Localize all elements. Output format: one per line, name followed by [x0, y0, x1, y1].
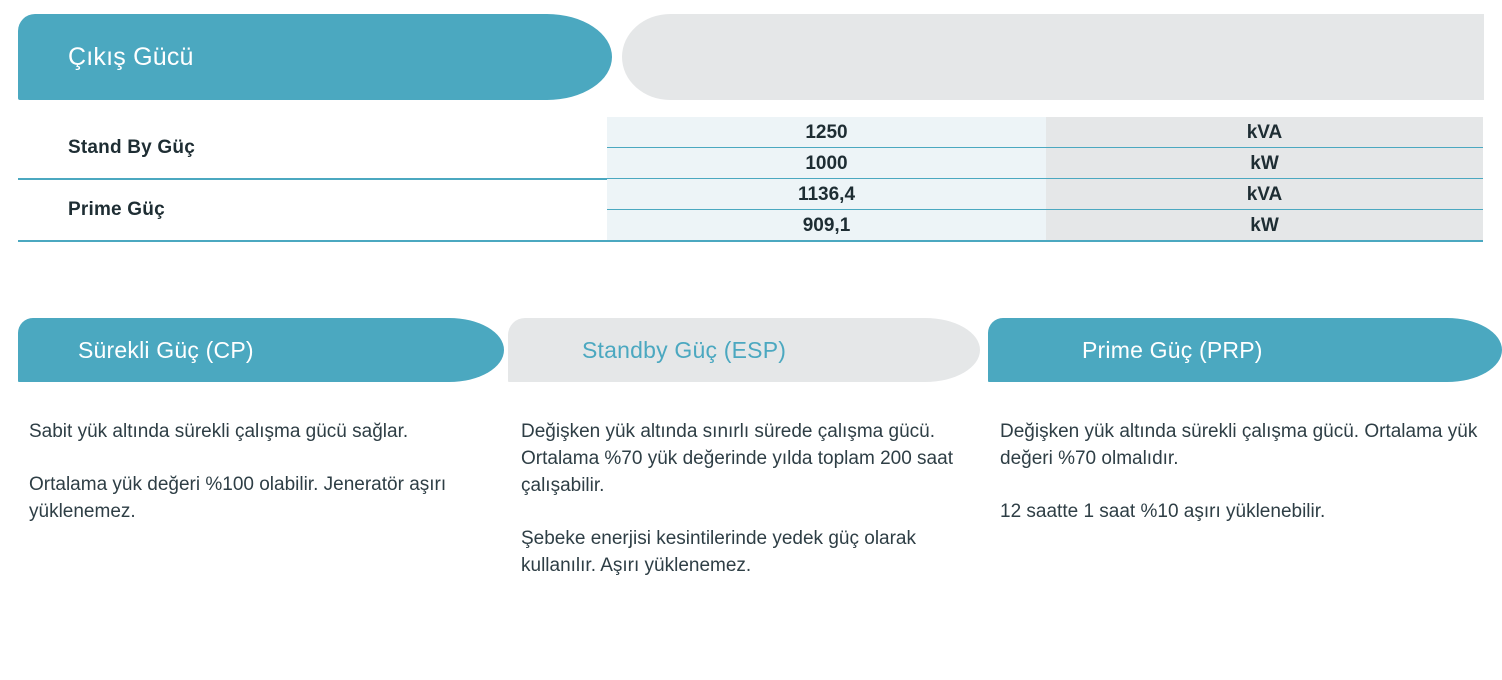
output-power-banner-secondary	[622, 14, 1484, 100]
card-title: Prime Güç (PRP)	[1082, 337, 1263, 364]
spec-unit: kW	[1046, 148, 1483, 179]
card-continuous-power: Sürekli Güç (CP) Sabit yük altında sürek…	[18, 318, 508, 680]
spec-unit: kVA	[1046, 179, 1483, 210]
card-title: Sürekli Güç (CP)	[78, 337, 254, 364]
output-power-banner-row: Çıkış Gücü	[0, 14, 1502, 100]
card-paragraph: 12 saatte 1 saat %10 aşırı yüklenebilir.	[1000, 498, 1480, 525]
card-paragraph: Değişken yük altında sürekli çalışma güc…	[1000, 418, 1480, 472]
card-paragraph: Ortalama yük değeri %100 olabilir. Jener…	[29, 471, 486, 525]
output-power-table: Stand By Güç 1250 kVA 1000 kW Prime Güç …	[0, 117, 1502, 241]
spec-value: 1136,4	[607, 179, 1046, 210]
card-header: Prime Güç (PRP)	[988, 318, 1502, 382]
group-divider	[18, 240, 1483, 242]
spec-value: 1250	[607, 117, 1046, 148]
spec-unit: kW	[1046, 210, 1483, 241]
table-row: 909,1 kW	[0, 210, 1502, 241]
spec-value: 1000	[607, 148, 1046, 179]
card-header: Standby Güç (ESP)	[508, 318, 980, 382]
spec-group-prime: Prime Güç 1136,4 kVA 909,1 kW	[0, 179, 1502, 241]
spec-group-standby: Stand By Güç 1250 kVA 1000 kW	[0, 117, 1502, 179]
card-body: Sabit yük altında sürekli çalışma gücü s…	[18, 382, 508, 525]
output-power-banner: Çıkış Gücü	[18, 14, 612, 100]
card-paragraph: Değişken yük altında sınırlı sürede çalı…	[521, 418, 976, 499]
power-rating-cards: Sürekli Güç (CP) Sabit yük altında sürek…	[0, 318, 1502, 680]
table-row: 1000 kW	[0, 148, 1502, 179]
table-row: 1136,4 kVA	[0, 179, 1502, 210]
card-header: Sürekli Güç (CP)	[18, 318, 504, 382]
card-paragraph: Sabit yük altında sürekli çalışma gücü s…	[29, 418, 486, 445]
spec-unit: kVA	[1046, 117, 1483, 148]
card-body: Değişken yük altında sınırlı sürede çalı…	[508, 382, 998, 579]
card-title: Standby Güç (ESP)	[582, 337, 786, 364]
card-prime-power: Prime Güç (PRP) Değişken yük altında sür…	[988, 318, 1502, 680]
output-power-banner-label: Çıkış Gücü	[68, 43, 194, 72]
card-paragraph: Şebeke enerjisi kesintilerinde yedek güç…	[521, 525, 976, 579]
spec-value: 909,1	[607, 210, 1046, 241]
table-row: 1250 kVA	[0, 117, 1502, 148]
card-standby-power: Standby Güç (ESP) Değişken yük altında s…	[508, 318, 998, 680]
card-body: Değişken yük altında sürekli çalışma güc…	[988, 382, 1502, 525]
